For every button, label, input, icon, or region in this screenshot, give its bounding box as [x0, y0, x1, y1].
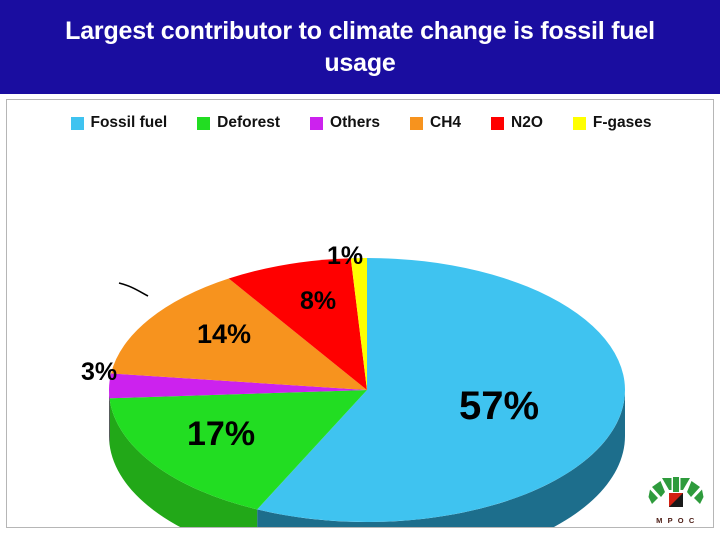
page-title: Largest contributor to climate change is…	[30, 15, 690, 79]
mpoc-logo-text: M P O C	[647, 516, 705, 525]
pie-data-label-n2o: 8%	[300, 287, 336, 316]
chart-container: Fossil fuel Deforest Others CH4 N2O F-ga…	[6, 99, 714, 528]
slide: Largest contributor to climate change is…	[0, 0, 720, 540]
mpoc-logo: M P O C	[647, 475, 705, 525]
pie-data-label-ch4: 14%	[197, 319, 251, 350]
leader-line-others	[119, 283, 148, 296]
pie-side-wall-others	[109, 390, 110, 444]
pie-data-label-others: 3%	[81, 358, 117, 387]
pie-slices	[109, 258, 625, 522]
pie-data-label-f-gases: 1%	[327, 242, 363, 271]
pie-chart-svg	[7, 100, 714, 527]
mpoc-logo-icon	[647, 475, 705, 515]
pie-data-label-fossil-fuel: 57%	[459, 384, 539, 429]
pie-data-label-deforest: 17%	[187, 415, 255, 454]
pie-chart: 1% 8% 14% 3% 17% 57%	[7, 100, 714, 527]
title-banner: Largest contributor to climate change is…	[0, 0, 720, 94]
